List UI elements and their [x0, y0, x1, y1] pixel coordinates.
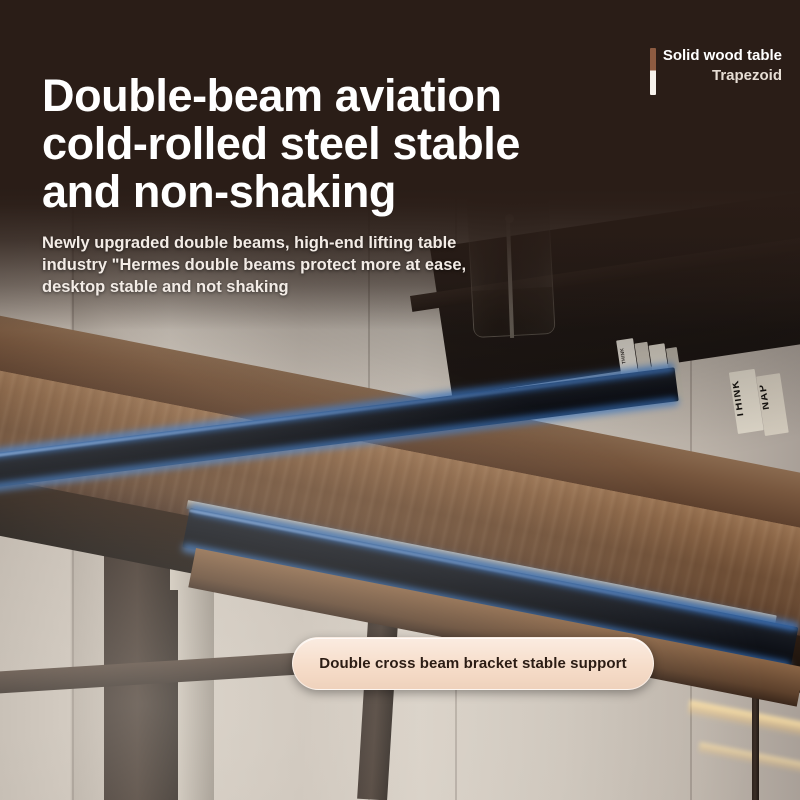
product-banner: THINK THINK NAP C 8 6 C 8 6 C 8 6 C 8 6 …: [0, 0, 800, 800]
callout-label: Double cross beam bracket stable support: [319, 655, 626, 672]
badge-line-2: Trapezoid: [712, 65, 782, 87]
callout-pill[interactable]: Double cross beam bracket stable support: [292, 637, 654, 690]
page-subtitle: Newly upgraded double beams, high-end li…: [42, 232, 512, 298]
product-badge: Solid wood table Trapezoid: [650, 46, 782, 95]
page-title: Double-beam aviation cold-rolled steel s…: [42, 72, 602, 216]
badge-line-1: Solid wood table: [663, 46, 782, 65]
badge-accent-bar: [650, 48, 656, 95]
